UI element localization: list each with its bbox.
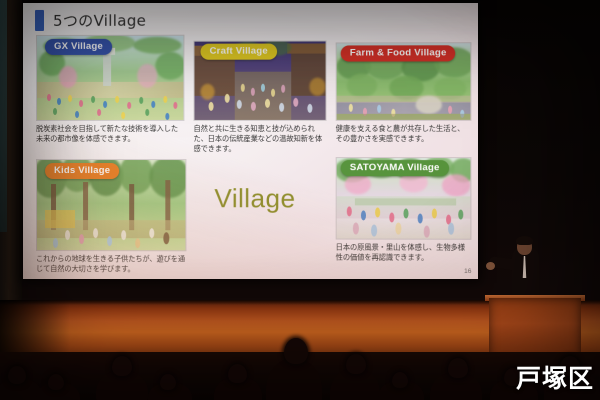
auditorium-photo: 5つのVillage <box>0 0 600 400</box>
panel-image-satoyama-village: SATOYAMA Village <box>336 157 472 240</box>
panel-farm-and-food-village: Farm & Food Village 健康を支える食と農が共存した生活と、その… <box>336 42 472 144</box>
caption-craft-village: 自然と共に生きる知恵と技が込められた、日本の伝統産業などの温故知新を体感できます… <box>193 124 326 154</box>
panel-gx-village: GX Village 脱炭素社会を目指して新たな技術を導入した未来の都市像を体感… <box>36 35 184 144</box>
panel-image-gx-village: GX Village <box>36 35 184 121</box>
caption-gx-village: 脱炭素社会を目指して新たな技術を導入した未来の都市像を体感できます。 <box>36 124 184 144</box>
label-satoyama-village: SATOYAMA Village <box>341 160 449 176</box>
label-craft-village: Craft Village <box>201 44 277 60</box>
presenter-hair <box>516 236 533 245</box>
label-kids-village: Kids Village <box>45 163 119 179</box>
slide-page-number: 16 <box>464 268 471 275</box>
label-farm-and-food-village: Farm & Food Village <box>341 45 456 61</box>
center-village-word: Village <box>189 183 320 214</box>
slide-title: 5つのVillage <box>53 10 146 31</box>
panel-kids-village: Kids Village これからの地球を生きる子供たちが、遊びを通じて自然の大… <box>36 159 186 274</box>
audience-area <box>0 352 600 400</box>
panel-image-craft-village: Craft Village <box>193 40 326 120</box>
slide-title-row: 5つのVillage <box>35 10 146 31</box>
caption-kids-village: これからの地球を生きる子供たちが、遊びを通じて自然の大切さを学びます。 <box>36 254 186 274</box>
label-gx-village: GX Village <box>45 39 112 55</box>
panel-image-kids-village: Kids Village <box>36 159 186 251</box>
caption-satoyama-village: 日本の原風景・里山を体感し、生物多様性の価値を再認識できます。 <box>336 243 472 263</box>
presenter-hand <box>486 262 495 270</box>
caption-farm-and-food-village: 健康を支える食と農が共存した生活と、その豊かさを実感できます。 <box>336 124 472 144</box>
title-accent-bar <box>35 10 44 31</box>
watermark-totsuka-ward: 戸塚区 <box>516 359 594 395</box>
stage-curtain-edge-light <box>0 0 7 232</box>
panel-satoyama-village: SATOYAMA Village 日本の原風景・里山を体感し、生物多様性の価値を… <box>336 157 472 263</box>
presentation-slide: 5つのVillage <box>23 3 478 279</box>
panel-craft-village: Craft Village 自然と共に生きる知恵と技が込められた、日本の伝統産業… <box>193 40 326 153</box>
panel-image-farm-and-food-village: Farm & Food Village <box>336 42 472 121</box>
projection-screen: 5つのVillage <box>23 3 478 279</box>
